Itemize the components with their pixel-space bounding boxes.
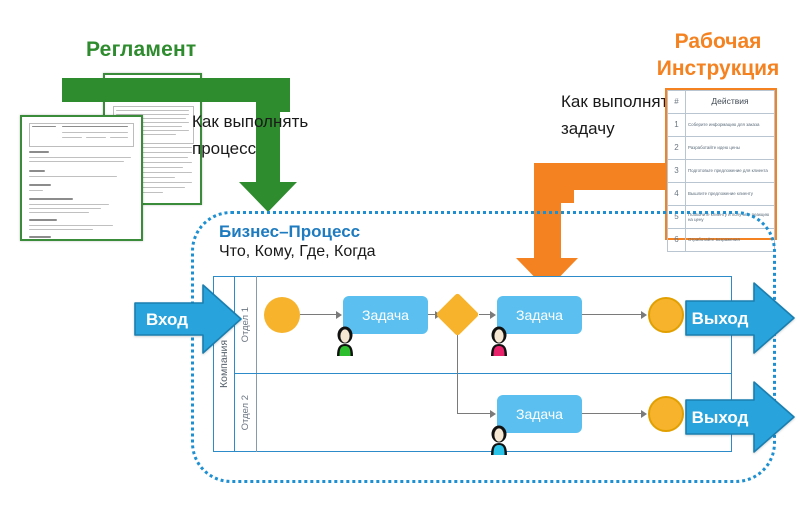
arrowhead-end2 <box>641 410 647 418</box>
lane-2-label-text: Отдел 2 <box>240 395 251 430</box>
row-number: 3 <box>668 160 686 183</box>
green-arrow-horizontal <box>62 78 280 102</box>
regulation-document-front <box>20 115 143 241</box>
person-icon-green <box>334 326 356 356</box>
arrowhead-task2 <box>490 311 496 319</box>
green-arrow-head <box>239 182 297 212</box>
diagram-canvas: Регламент Рабочая Инструкция Как выполня… <box>0 0 800 517</box>
person-icon-pink <box>488 326 510 356</box>
work-instruction-title-line1: Рабочая <box>636 28 800 55</box>
table-row: 1Соберите информацию для заказа <box>668 114 775 137</box>
connector-task3-to-end2 <box>582 413 642 414</box>
output-arrow-2-label: Выход <box>692 408 749 427</box>
row-number: 4 <box>668 183 686 206</box>
connector-branch-to-task3 <box>457 413 491 414</box>
arrowhead-task3 <box>490 410 496 418</box>
connector-gateway-branch-vertical <box>457 330 458 414</box>
page-title-work-instruction: Рабочая Инструкция <box>636 28 800 82</box>
end-event-lane1 <box>648 297 684 333</box>
table-row: 3Подготовьте предложение для клиента <box>668 160 775 183</box>
callout-how-to-run-process: Как выполнять процесс <box>192 108 312 162</box>
person-icon-cyan <box>488 425 510 455</box>
input-arrow-label: Вход <box>146 310 188 329</box>
connector-start-to-task1 <box>300 314 337 315</box>
row-action: Подготовьте предложение для клиента <box>686 160 775 183</box>
table-header-row: # Действия <box>668 91 775 114</box>
work-instruction-title-line2: Инструкция <box>636 55 800 82</box>
start-event <box>264 297 300 333</box>
row-number: 1 <box>668 114 686 137</box>
page-title-regulation: Регламент <box>86 38 246 62</box>
row-action: Соберите информацию для заказа <box>686 114 775 137</box>
table-row: 2Разработайте идею цены <box>668 137 775 160</box>
column-header-action: Действия <box>686 91 775 114</box>
arrowhead-end1 <box>641 311 647 319</box>
row-action: Вышлите предложение клиенту <box>686 183 775 206</box>
table-row: 4Вышлите предложение клиенту <box>668 183 775 206</box>
lane-2-label: Отдел 2 <box>235 374 257 452</box>
output-arrow-1-label: Выход <box>692 309 749 328</box>
column-header-number: # <box>668 91 686 114</box>
connector-task2-to-end1 <box>582 314 642 315</box>
input-arrow: Вход <box>133 283 243 355</box>
row-action: Разработайте идею цены <box>686 137 775 160</box>
arrowhead-task1 <box>336 311 342 319</box>
business-process-subtitle: Что, Кому, Где, Когда <box>219 243 376 261</box>
business-process-title: Бизнес–Процесс <box>219 222 360 242</box>
row-number: 2 <box>668 137 686 160</box>
end-event-lane2 <box>648 396 684 432</box>
output-arrow-1: Выход <box>684 281 796 355</box>
output-arrow-2: Выход <box>684 380 796 454</box>
